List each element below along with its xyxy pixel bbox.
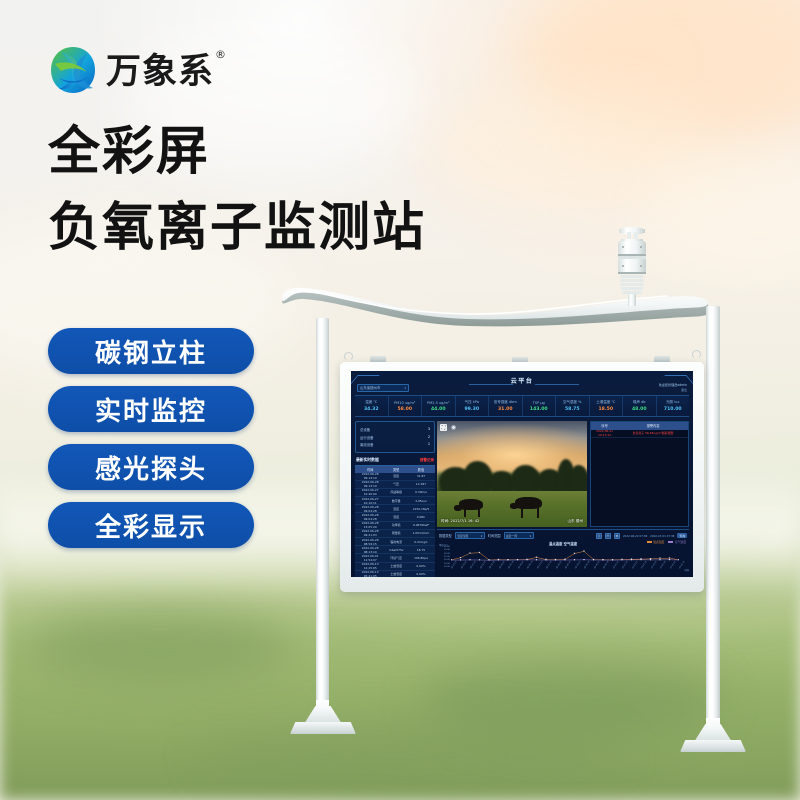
station-select[interactable]: 山东省德州市 ▾ bbox=[357, 384, 409, 392]
chevron-down-icon: ▾ bbox=[404, 386, 406, 390]
alarm-cell: 负氧离子 58.48ug/m³超标报警 bbox=[618, 431, 688, 435]
query-button[interactable]: 查询 bbox=[677, 533, 687, 538]
station-select-value: 山东省德州市 bbox=[360, 385, 380, 390]
metric-label: 土壤温度 ℃ bbox=[596, 400, 615, 405]
left-support-post bbox=[316, 318, 329, 718]
metric-value: 58.75 bbox=[565, 407, 580, 412]
table-column-header: 类型 bbox=[385, 467, 407, 472]
metric-cell: 信号强度 dbm31.00 bbox=[489, 396, 523, 416]
table-cell: 0.30m/s bbox=[407, 490, 435, 494]
alarm-panel: 序号报警内容 2022-06-21 10:13:12负氧离子 58.48ug/m… bbox=[590, 421, 689, 527]
base-gusset bbox=[694, 724, 732, 742]
metric-value: 58.00 bbox=[397, 407, 412, 412]
device-stat-value: 2 bbox=[428, 435, 430, 440]
device-stat-row: 总设备3 bbox=[360, 427, 430, 432]
logout-link[interactable]: 退出 bbox=[659, 388, 687, 393]
device-stat-key: 总设备 bbox=[360, 427, 370, 432]
right-support-post bbox=[706, 306, 720, 736]
table-cell: 湿度 bbox=[385, 515, 407, 519]
legend-swatch bbox=[647, 541, 652, 542]
cabinet-hanger-hook bbox=[344, 352, 353, 361]
legend-label: 空气湿度 bbox=[675, 540, 686, 544]
metric-value: 99.30 bbox=[464, 407, 479, 412]
metrics-strip: 温度 ℃34.32PM10 ug/m³58.00PM2.5 ug/m³44.00… bbox=[355, 395, 689, 417]
metric-value: 31.00 bbox=[498, 407, 513, 412]
base-plate bbox=[680, 740, 746, 752]
time-range-value: 最近一周 bbox=[506, 534, 517, 538]
table-cell: 环境气压 bbox=[385, 556, 407, 560]
table-cell: 2022-06-28 13:05:20 bbox=[355, 521, 385, 529]
metric-cell: 光照 lux710.00 bbox=[657, 396, 690, 416]
table-cell: 功率值 bbox=[385, 523, 407, 527]
table-cell: 2022-06-28 09:04:28 bbox=[355, 505, 385, 513]
metric-label: 噪声 db bbox=[633, 400, 646, 405]
user-meta: 欢迎您管理员admin 退出 bbox=[659, 383, 687, 392]
table-cell: 温度 bbox=[385, 507, 407, 511]
video-overlay-controls[interactable]: ⛶ ◉ bbox=[440, 424, 457, 431]
metric-label: 信号强度 dbm bbox=[494, 400, 517, 405]
metric-label: 光照 lux bbox=[666, 400, 679, 405]
metric-cell: PM10 ug/m³58.00 bbox=[389, 396, 423, 416]
video-cow-leg bbox=[464, 509, 466, 517]
table-cell: 2022-06-28 09:21:03 bbox=[355, 529, 385, 537]
realtime-table-header: 最新实时数据 报警记录 bbox=[355, 457, 435, 466]
table-cell: 0.00% bbox=[407, 572, 435, 576]
table-column-header: 数值 bbox=[407, 467, 435, 472]
chart-legend-item[interactable]: 空气湿度 bbox=[668, 540, 686, 544]
table-cell: 2150.18e/5 bbox=[407, 507, 435, 511]
table-cell: 土壤湿度 bbox=[385, 572, 407, 576]
left-panel: 总设备3运行设备2离线设备1 最新实时数据 报警记录 时间类型数值 2022-0… bbox=[355, 421, 435, 577]
table-cell: 12.187 bbox=[407, 482, 435, 486]
camera-icon[interactable]: ◉ bbox=[450, 424, 457, 431]
table-cell: 2022-06-28 09:13:19 bbox=[355, 480, 385, 488]
y-axis-tick: 40.00 bbox=[444, 546, 450, 548]
metric-value: 18.50 bbox=[598, 407, 613, 412]
ultrasonic-weather-sensor bbox=[608, 224, 656, 306]
metric-label: 温度 ℃ bbox=[365, 400, 377, 405]
alarm-records-link[interactable]: 报警记录 bbox=[420, 458, 434, 463]
metric-value: 34.32 bbox=[364, 407, 379, 412]
table-cell: 18.75 bbox=[407, 548, 435, 552]
bar-chart-icon[interactable]: ▥ bbox=[596, 533, 602, 539]
date-to-value[interactable]: 2022-07-01 07:38 bbox=[650, 534, 674, 538]
base-gusset bbox=[304, 706, 342, 724]
metric-label: TSP μg bbox=[533, 401, 545, 405]
device-stat-key: 运行设备 bbox=[360, 435, 374, 440]
table-cell: 1.05ml/mm bbox=[407, 531, 435, 535]
metric-cell: 温度 ℃34.32 bbox=[355, 396, 389, 416]
table-cell: 2022-06-13 12:25:05 bbox=[355, 562, 385, 570]
table-cell: mba/075x bbox=[385, 548, 407, 552]
line-chart-icon[interactable]: ▤ bbox=[605, 533, 611, 539]
table-cell: 雨量值 bbox=[385, 531, 407, 535]
welcome-user-text: 欢迎您管理员admin bbox=[659, 383, 687, 387]
video-cow-leg bbox=[478, 509, 480, 517]
metric-value: 143.00 bbox=[530, 407, 548, 412]
table-cell: 3.05Lux bbox=[407, 499, 435, 503]
metric-label: 气压 kPa bbox=[465, 400, 479, 405]
video-timestamp: 时间: 2022/7/1 16: 42 bbox=[441, 519, 479, 524]
device-stats-box: 总设备3运行设备2离线设备1 bbox=[355, 421, 435, 453]
chevron-down-icon: ▾ bbox=[481, 534, 482, 538]
chart-x-axis-label: 时间 bbox=[685, 568, 689, 572]
video-cow-head bbox=[510, 503, 518, 509]
device-stat-row: 运行设备2 bbox=[360, 435, 430, 440]
table-cell: 31.87 bbox=[407, 474, 435, 478]
chart-legend: 温点温度空气湿度 bbox=[647, 540, 686, 544]
metric-cell: PM2.5 ug/m³44.00 bbox=[422, 396, 456, 416]
table-cell: 2022-06-28 08:59:15 bbox=[355, 538, 385, 546]
table-cell: 0.4mcg/L bbox=[407, 540, 435, 544]
realtime-data-table: 2022-06-28 09:13:19温度31.872022-06-28 09:… bbox=[355, 473, 435, 578]
video-cow-head bbox=[454, 505, 462, 511]
table-cell: 2022-06-28 08:13:10 bbox=[355, 546, 385, 554]
time-range-label: 时间范围 bbox=[488, 533, 501, 538]
table-cell: 0.00% bbox=[407, 564, 435, 568]
table-cell: 2022-06-01 11:54:07 bbox=[355, 554, 385, 562]
y-axis-tick: 10.00 bbox=[444, 566, 450, 568]
metric-label: 空气湿度 % bbox=[563, 400, 581, 405]
alarm-column-header: 报警内容 bbox=[618, 423, 688, 428]
video-location-label: 山东 德州 bbox=[567, 519, 583, 524]
metric-label: PM2.5 ug/m³ bbox=[427, 401, 449, 405]
metric-cell: 噪声 db48.00 bbox=[623, 396, 657, 416]
chart-controls: 数据类型 温度湿度 ▾ 时间范围 最近一周 ▾ ▥ ▤ ▦ 2022-06-22… bbox=[437, 531, 689, 540]
alarm-column-header: 序号 bbox=[591, 423, 618, 428]
table-cell: 辐射电流 bbox=[385, 540, 407, 544]
y-axis-tick: 25.00 bbox=[444, 556, 450, 558]
device-stat-value: 3 bbox=[428, 427, 430, 432]
chevron-down-icon: ▾ bbox=[530, 534, 531, 538]
y-axis-tick: 20.00 bbox=[444, 559, 450, 561]
date-from-value[interactable]: 2022-06-22 07:38 bbox=[623, 534, 647, 538]
monitoring-station-product: 云平台 山东省德州市 ▾ 欢迎您管理员admin 退出 温度 ℃34.32PM1… bbox=[0, 0, 800, 800]
y-axis-tick: 30.00 bbox=[444, 553, 450, 555]
data-type-value: 温度湿度 bbox=[457, 534, 468, 538]
table-cell: 0.0Rh bbox=[407, 515, 435, 519]
device-stat-value: 1 bbox=[428, 442, 430, 447]
table-cell: 风速等级 bbox=[385, 490, 407, 494]
table-column-header: 时间 bbox=[355, 467, 385, 472]
y-axis-tick: 15.00 bbox=[444, 563, 450, 565]
table-cell: 2022-06-13 05:41:05 bbox=[355, 570, 385, 577]
dashboard-screen[interactable]: 云平台 山东省德州市 ▾ 欢迎您管理员admin 退出 温度 ℃34.32PM1… bbox=[351, 371, 693, 577]
table-cell: 气压 bbox=[385, 482, 407, 486]
table-cell: 土壤湿度 bbox=[385, 564, 407, 568]
title-wing-decoration bbox=[535, 381, 579, 385]
time-range-select[interactable]: 最近一周 ▾ bbox=[504, 532, 534, 539]
table-cell: 2022-06-28 09:04:28 bbox=[355, 513, 385, 521]
export-icon[interactable]: ▦ bbox=[614, 533, 620, 539]
chart-y-axis-ticks: 40.0035.0030.0025.0020.0015.0010.00 bbox=[437, 546, 450, 568]
legend-swatch bbox=[668, 541, 673, 542]
video-cow-leg bbox=[521, 508, 523, 518]
table-row[interactable]: 2022-06-13 05:41:05土壤湿度0.00% bbox=[355, 571, 435, 577]
legend-label: 温点温度 bbox=[653, 540, 664, 544]
metric-cell: 空气湿度 %58.75 bbox=[556, 396, 590, 416]
history-chart-panel: 数据类型 温度湿度 ▾ 时间范围 最近一周 ▾ ▥ ▤ ▦ 2022-06-22… bbox=[437, 529, 689, 575]
table-cell: 温度 bbox=[385, 474, 407, 478]
data-type-select[interactable]: 温度湿度 ▾ bbox=[455, 532, 485, 539]
y-axis-tick: 35.00 bbox=[444, 549, 450, 551]
table-cell: 2022-06-28 09:13:19 bbox=[355, 472, 385, 480]
chart-legend-item[interactable]: 温点温度 bbox=[647, 540, 665, 544]
video-cow-leg bbox=[537, 508, 539, 518]
alarm-cell: 2022-06-21 10:13:12 bbox=[591, 429, 618, 437]
chart-view-toggles: ▥ ▤ ▦ 2022-06-22 07:38 2022-07-01 07:38 … bbox=[596, 533, 687, 539]
cabinet-hanger-hook bbox=[692, 350, 701, 359]
metric-label: PM10 ug/m³ bbox=[394, 401, 415, 405]
title-wing-decoration bbox=[469, 381, 513, 385]
alarm-row[interactable]: 2022-06-21 10:13:12负氧离子 58.48ug/m³超标报警 bbox=[591, 430, 688, 438]
device-stat-row: 离线设备1 bbox=[360, 442, 430, 447]
base-plate bbox=[290, 722, 356, 734]
table-cell: 数字量 bbox=[385, 499, 407, 503]
metric-cell: TSP μg143.00 bbox=[523, 396, 557, 416]
table-cell: 2022-06-27 10:40:00 bbox=[355, 488, 385, 496]
table-cell: 106.8Kpa bbox=[407, 556, 435, 560]
metric-value: 710.00 bbox=[664, 407, 682, 412]
realtime-table-title: 最新实时数据 bbox=[356, 457, 379, 463]
data-type-label: 数据类型 bbox=[439, 533, 452, 538]
live-video-feed[interactable]: ⛶ ◉ 时间: 2022/7/1 16: 42 山东 德州 bbox=[437, 421, 587, 527]
chart-x-axis-ticks: 06-22 0706-23 0706-23 1906-24 0706-24 19… bbox=[451, 568, 679, 576]
metric-cell: 气压 kPa99.30 bbox=[456, 396, 490, 416]
table-cell: 0.0876KwF bbox=[407, 523, 435, 527]
device-stat-key: 离线设备 bbox=[360, 442, 374, 447]
expand-icon[interactable]: ⛶ bbox=[440, 424, 447, 431]
alarm-list: 2022-06-21 10:13:12负氧离子 58.48ug/m³超标报警 bbox=[591, 430, 688, 438]
table-cell: 2022-06-27 10:10:11 bbox=[355, 497, 385, 505]
metric-cell: 土壤温度 ℃18.50 bbox=[590, 396, 624, 416]
metric-value: 44.00 bbox=[431, 407, 446, 412]
metric-value: 48.00 bbox=[632, 407, 647, 412]
